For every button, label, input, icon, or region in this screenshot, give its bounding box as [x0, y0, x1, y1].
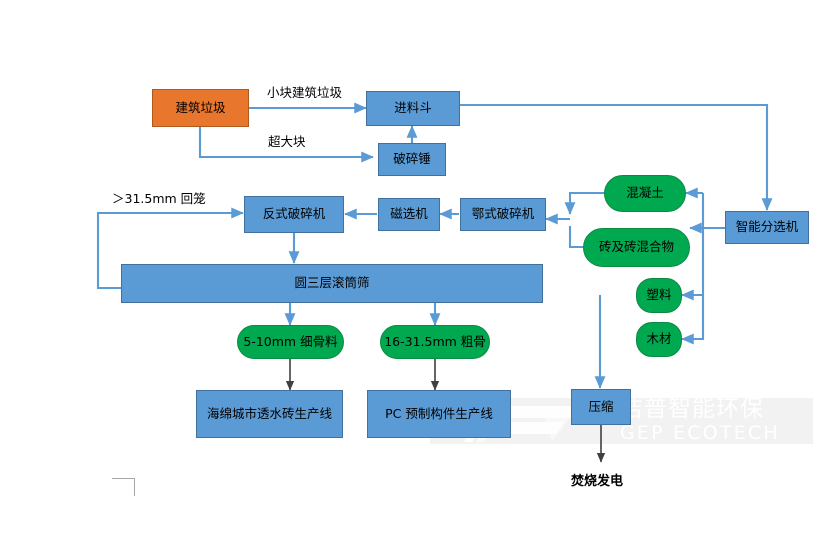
node-label: 塑料: [646, 288, 671, 302]
node-coarse-aggregate[interactable]: 16-31.5mm 粗骨: [380, 325, 490, 359]
node-construction-waste[interactable]: 建筑垃圾: [152, 89, 249, 127]
node-label: 鄂式破碎机: [472, 207, 535, 221]
node-label: 反式破碎机: [263, 207, 326, 221]
node-breaking-hammer[interactable]: 破碎锤: [378, 143, 446, 176]
node-label: 建筑垃圾: [175, 101, 225, 115]
node-label: 16-31.5mm 粗骨: [384, 335, 486, 349]
node-magnetic-separator[interactable]: 磁选机: [378, 198, 440, 231]
edge-label-text: 超大块: [268, 134, 306, 149]
label-text: 焚烧发电: [571, 474, 623, 489]
node-label: 磁选机: [390, 207, 428, 221]
node-label: 智能分选机: [736, 220, 799, 234]
node-plastic[interactable]: 塑料: [636, 278, 682, 313]
node-concrete[interactable]: 混凝土: [604, 175, 686, 212]
node-brick-mix[interactable]: 砖及砖混合物: [583, 228, 690, 267]
node-smart-sorter[interactable]: 智能分选机: [725, 211, 809, 244]
corner-artifact: [112, 478, 135, 496]
node-impact-crusher[interactable]: 反式破碎机: [244, 196, 344, 233]
node-compression[interactable]: 压缩: [571, 389, 631, 425]
node-feed-hopper[interactable]: 进料斗: [366, 91, 460, 126]
node-label: 砖及砖混合物: [599, 240, 674, 254]
node-label: 破碎锤: [393, 152, 431, 166]
edge-label-text: 小块建筑垃圾: [267, 85, 342, 100]
node-label: 5-10mm 细骨料: [243, 335, 337, 349]
edge-label-text: ＞31.5mm 回笼: [112, 191, 206, 206]
node-drum-screen[interactable]: 圆三层滚筒筛: [121, 264, 543, 303]
node-fine-aggregate[interactable]: 5-10mm 细骨料: [237, 325, 344, 359]
node-label: 圆三层滚筒筛: [294, 276, 369, 290]
edge-label-oversize-blocks: 超大块: [268, 131, 306, 150]
flowchart-canvas: 洁普智能环保 GEP ECOTECH: [0, 0, 813, 535]
node-label: 混凝土: [626, 186, 664, 200]
node-label: 进料斗: [394, 101, 432, 115]
node-label: 压缩: [588, 400, 613, 414]
node-pc-precast-line[interactable]: PC 预制构件生产线: [367, 390, 511, 438]
edge-label-recycle-loop: ＞31.5mm 回笼: [112, 188, 206, 207]
node-label: PC 预制构件生产线: [385, 407, 493, 421]
node-jaw-crusher[interactable]: 鄂式破碎机: [460, 198, 546, 231]
node-label: 木材: [646, 332, 671, 346]
label-incineration: 焚烧发电: [571, 470, 623, 489]
node-label: 海绵城市透水砖生产线: [207, 407, 332, 421]
edge-label-small-blocks: 小块建筑垃圾: [267, 82, 342, 101]
node-wood[interactable]: 木材: [636, 322, 682, 357]
node-sponge-city-line[interactable]: 海绵城市透水砖生产线: [196, 390, 343, 438]
